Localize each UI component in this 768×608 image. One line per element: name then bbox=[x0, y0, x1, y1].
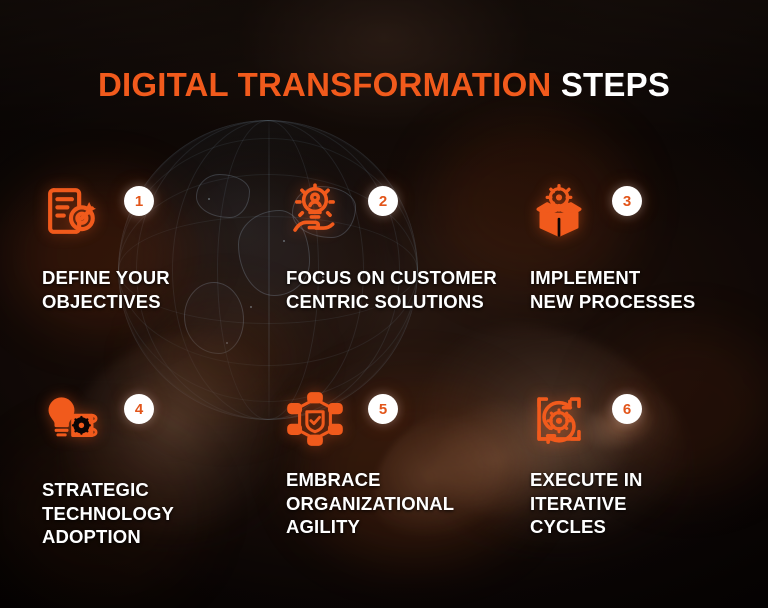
open-box-gear-icon bbox=[530, 182, 588, 240]
lightbulb-blueprint-gear-icon bbox=[42, 390, 100, 448]
step-2-label: FOCUS ON CUSTOMER CENTRIC SOLUTIONS bbox=[286, 266, 498, 313]
step-3-icon-row: 3 bbox=[530, 182, 742, 250]
page-title-highlight: DIGITAL TRANSFORMATION bbox=[98, 66, 552, 103]
steps-grid: 1 DEFINE YOUR OBJECTIVES bbox=[42, 182, 742, 549]
step-5-label: EMBRACE ORGANIZATIONAL AGILITY bbox=[286, 468, 498, 539]
step-3-number-badge: 3 bbox=[612, 186, 642, 216]
clipboard-target-icon bbox=[42, 182, 100, 240]
step-item-3[interactable]: 3 IMPLEMENT NEW PROCESSES bbox=[530, 182, 742, 378]
step-4-icon-row: 4 bbox=[42, 390, 254, 456]
step-2-icon-row: 2 bbox=[286, 182, 498, 250]
step-5-icon-row: 5 bbox=[286, 390, 498, 456]
step-2-number-badge: 2 bbox=[368, 186, 398, 216]
infographic-page: DIGITAL TRANSFORMATION STEPS bbox=[0, 0, 768, 608]
step-1-number-badge: 1 bbox=[124, 186, 154, 216]
steps-row-2: 4 STRATEGIC TECHNOLOGY ADOPTION bbox=[42, 390, 742, 549]
step-item-2[interactable]: 2 FOCUS ON CUSTOMER CENTRIC SOLUTIONS bbox=[286, 182, 498, 378]
page-title: DIGITAL TRANSFORMATION STEPS bbox=[0, 68, 768, 101]
step-3-label: IMPLEMENT NEW PROCESSES bbox=[530, 266, 742, 313]
step-4-number-badge: 4 bbox=[124, 394, 154, 424]
step-4-label: STRATEGIC TECHNOLOGY ADOPTION bbox=[42, 478, 254, 549]
page-title-suffix: STEPS bbox=[561, 66, 670, 103]
step-1-label: DEFINE YOUR OBJECTIVES bbox=[42, 266, 254, 313]
step-item-1[interactable]: 1 DEFINE YOUR OBJECTIVES bbox=[42, 182, 254, 378]
step-item-6[interactable]: 6 EXECUTE IN ITERATIVE CYCLES bbox=[530, 390, 742, 549]
page-title-plain bbox=[551, 66, 560, 103]
step-item-4[interactable]: 4 STRATEGIC TECHNOLOGY ADOPTION bbox=[42, 390, 254, 549]
step-item-5[interactable]: 5 EMBRACE ORGANIZATIONAL AGILITY bbox=[286, 390, 498, 549]
lightbulb-user-hand-icon bbox=[286, 182, 344, 240]
steps-row-1: 1 DEFINE YOUR OBJECTIVES bbox=[42, 182, 742, 378]
step-1-icon-row: 1 bbox=[42, 182, 254, 250]
step-6-label: EXECUTE IN ITERATIVE CYCLES bbox=[530, 468, 742, 539]
cycle-arrows-gear-icon bbox=[530, 390, 588, 448]
infographic-content: DIGITAL TRANSFORMATION STEPS bbox=[0, 0, 768, 608]
step-6-number-badge: 6 bbox=[612, 394, 642, 424]
step-5-number-badge: 5 bbox=[368, 394, 398, 424]
step-6-icon-row: 6 bbox=[530, 390, 742, 456]
network-checkmark-icon bbox=[286, 390, 344, 448]
